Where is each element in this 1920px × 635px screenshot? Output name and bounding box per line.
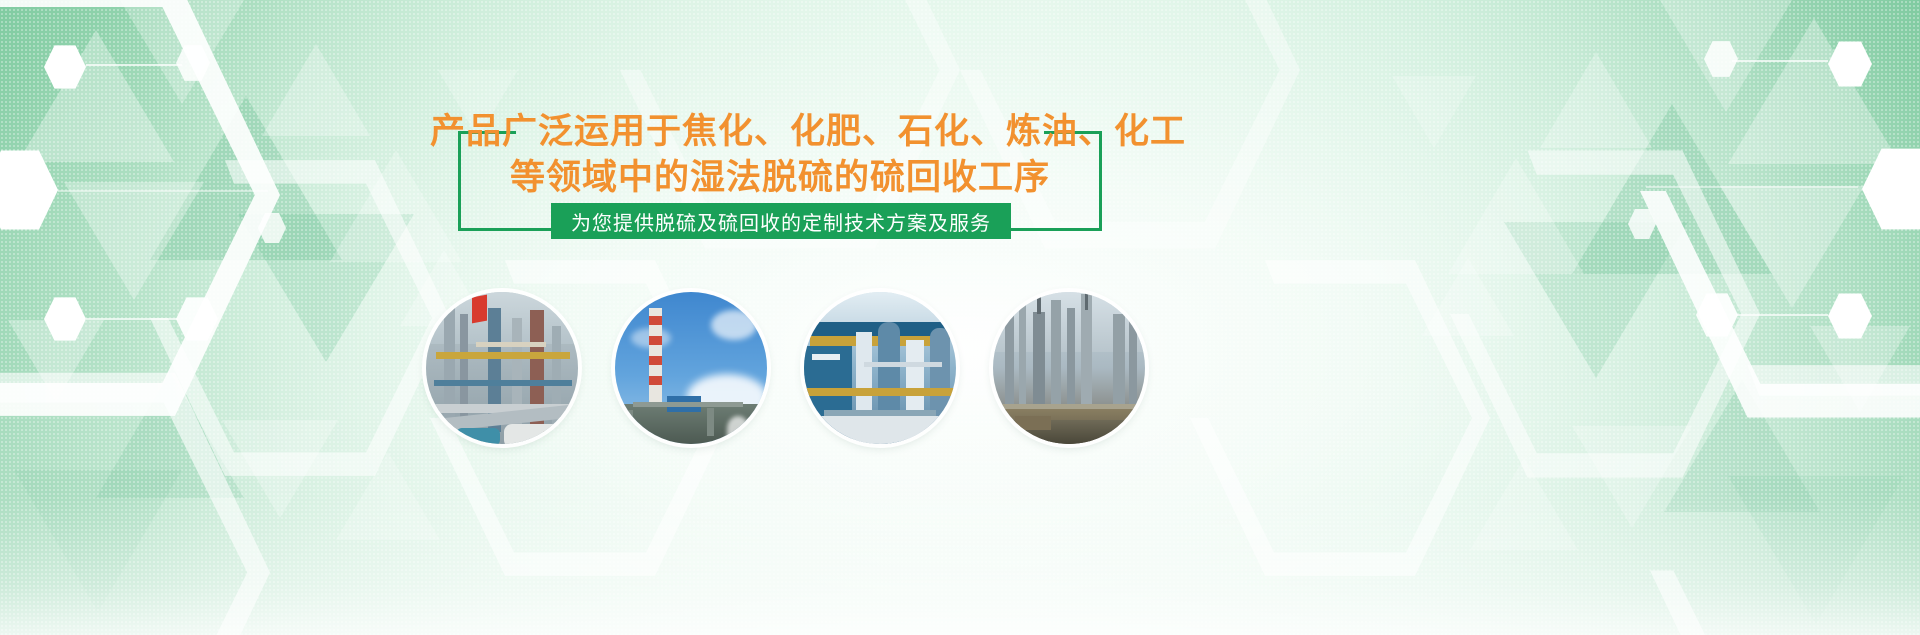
refinery-towers-photo: [993, 292, 1145, 444]
subtitle-banner: 为您提供脱硫及硫回收的定制技术方案及服务: [551, 203, 1011, 239]
banner-headline: 产品广泛运用于焦化、化肥、石化、炼油、化工 等领域中的湿法脱硫的硫回收工序: [430, 109, 1130, 201]
chimney-plant-photo: [615, 292, 767, 444]
refinery-pipework-photo: [426, 292, 578, 444]
headline-line-1: 产品广泛运用于焦化、化肥、石化、炼油、化工: [430, 112, 1186, 151]
photo-circle-row: [420, 292, 1160, 444]
subtitle-text: 为您提供脱硫及硫回收的定制技术方案及服务: [571, 207, 991, 236]
blue-process-plant-photo: [804, 292, 956, 444]
promo-banner: 产品广泛运用于焦化、化肥、石化、炼油、化工 等领域中的湿法脱硫的硫回收工序 为您…: [0, 0, 1920, 635]
headline-line-2: 等领域中的湿法脱硫的硫回收工序: [430, 155, 1130, 201]
